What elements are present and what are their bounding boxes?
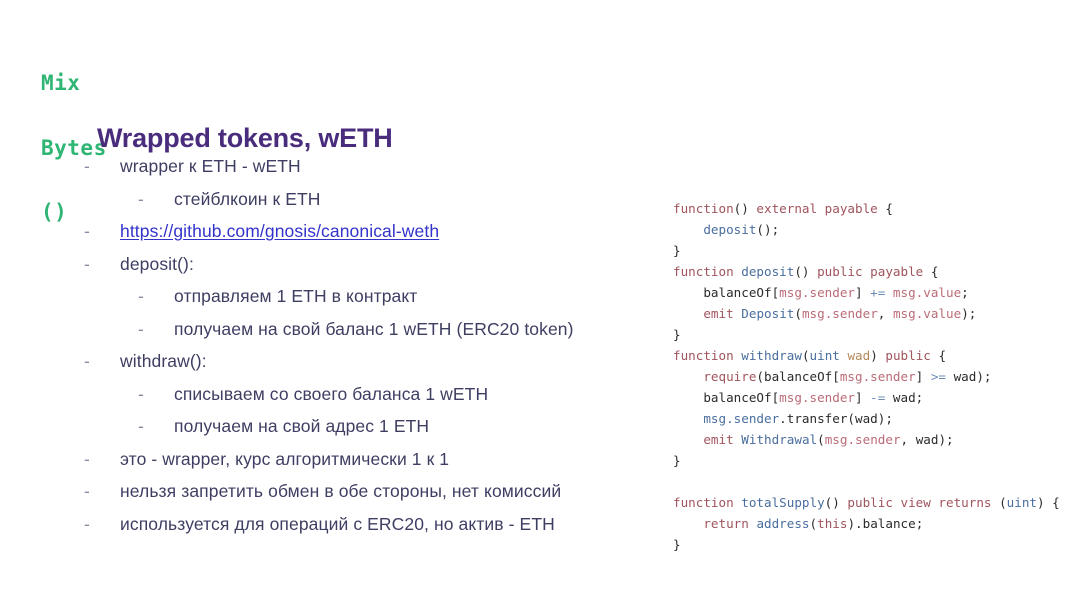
code-line: function withdraw(uint wad) public { — [673, 345, 1060, 366]
code-token: ] — [916, 369, 931, 384]
code-token: wad; — [885, 390, 923, 405]
code-line: emit Withdrawal(msg.sender, wad); — [673, 429, 1060, 450]
brand-logo-line-1: Mix — [41, 73, 107, 95]
bullet-dash-icon: - — [138, 386, 147, 404]
code-token: ) { — [1037, 495, 1060, 510]
bullet-text: списываем со своего баланса 1 wETH — [174, 386, 644, 404]
code-token: () — [825, 495, 848, 510]
code-token: () — [794, 264, 817, 279]
code-token: uint — [1007, 495, 1037, 510]
code-token: msg.sender — [779, 285, 855, 300]
code-token: msg.value — [893, 306, 961, 321]
code-token: emit — [703, 432, 733, 447]
code-line: deposit(); — [673, 219, 1060, 240]
code-token: uint — [810, 348, 840, 363]
code-token: msg.value — [893, 285, 961, 300]
code-token: ).balance; — [847, 516, 923, 531]
code-line: } — [673, 450, 1060, 471]
code-token: ] — [855, 390, 870, 405]
code-token — [673, 411, 703, 426]
code-token: { — [931, 348, 946, 363]
code-token: } — [673, 453, 681, 468]
code-token: () — [734, 201, 757, 216]
code-token — [673, 222, 703, 237]
bullet-text: это - wrapper, курс алгоритмически 1 к 1 — [120, 451, 644, 469]
bullet-item: -получаем на свой адрес 1 ETH — [84, 418, 644, 436]
code-line: } — [673, 534, 1060, 555]
code-token — [885, 285, 893, 300]
bullet-item: -получаем на свой баланс 1 wETH (ERC20 t… — [84, 321, 644, 339]
bullet-item: -стейблкоин к ETH — [84, 191, 644, 209]
code-token: Withdrawal — [741, 432, 817, 447]
bullet-dash-icon: - — [84, 451, 93, 469]
bullet-item: -deposit(): — [84, 256, 644, 274]
bullet-item: -отправляем 1 ETH в контракт — [84, 288, 644, 306]
bullet-item: -это - wrapper, курс алгоритмически 1 к … — [84, 451, 644, 469]
code-token: { — [878, 201, 893, 216]
bullet-dash-icon: - — [138, 418, 147, 436]
bullet-text: wrapper к ETH - wETH — [120, 158, 644, 176]
code-line: function deposit() public payable { — [673, 261, 1060, 282]
code-token: ( — [817, 432, 825, 447]
bullet-dash-icon: - — [138, 191, 147, 209]
code-line: balanceOf[msg.sender] -= wad; — [673, 387, 1060, 408]
code-token: withdraw — [741, 348, 802, 363]
code-token: ] — [855, 285, 870, 300]
code-token: ); — [961, 306, 976, 321]
code-token: ( — [794, 306, 802, 321]
code-token: function — [673, 264, 734, 279]
code-token: ; — [961, 285, 969, 300]
code-token: { — [923, 264, 938, 279]
code-line: require(balanceOf[msg.sender] >= wad); — [673, 366, 1060, 387]
code-token — [673, 369, 703, 384]
code-token: deposit — [741, 264, 794, 279]
bullet-dash-icon: - — [84, 353, 93, 371]
code-line: } — [673, 324, 1060, 345]
code-line: function totalSupply() public view retur… — [673, 492, 1060, 513]
code-token: function — [673, 201, 734, 216]
code-token: , — [878, 306, 893, 321]
code-token: external payable — [756, 201, 877, 216]
code-token: public payable — [817, 264, 923, 279]
bullet-dash-icon: - — [84, 223, 93, 241]
code-line: balanceOf[msg.sender] += msg.value; — [673, 282, 1060, 303]
code-token: this — [817, 516, 847, 531]
code-token: public — [885, 348, 931, 363]
code-token: += — [870, 285, 885, 300]
code-token: } — [673, 327, 681, 342]
code-token — [673, 306, 703, 321]
code-line: function() external payable { — [673, 198, 1060, 219]
code-token: balanceOf[ — [673, 285, 779, 300]
code-token: totalSupply — [741, 495, 824, 510]
code-token: msg.sender — [802, 306, 878, 321]
code-token: require — [703, 369, 756, 384]
bullet-item: -списываем со своего баланса 1 wETH — [84, 386, 644, 404]
bullet-text: withdraw(): — [120, 353, 644, 371]
bullet-item: -withdraw(): — [84, 353, 644, 371]
bullet-item: -wrapper к ETH - wETH — [84, 158, 644, 176]
bullet-dash-icon: - — [84, 516, 93, 534]
code-token: .transfer(wad); — [779, 411, 893, 426]
code-token: ( — [802, 348, 810, 363]
code-token: function — [673, 348, 734, 363]
code-line: emit Deposit(msg.sender, msg.value); — [673, 303, 1060, 324]
bullet-dash-icon: - — [138, 321, 147, 339]
bullet-text: deposit(): — [120, 256, 644, 274]
bullet-text: https://github.com/gnosis/canonical-weth — [120, 223, 644, 241]
code-block: function() external payable { deposit();… — [673, 198, 1060, 555]
code-token — [673, 516, 703, 531]
bullet-item: -используется для операций с ERC20, но а… — [84, 516, 644, 534]
bullet-text: получаем на свой баланс 1 wETH (ERC20 to… — [174, 321, 644, 339]
code-token: } — [673, 537, 681, 552]
bullet-text: используется для операций с ERC20, но ак… — [120, 516, 644, 534]
code-token: -= — [870, 390, 885, 405]
code-token: function — [673, 495, 734, 510]
code-token: } — [673, 243, 681, 258]
code-line: return address(this).balance; — [673, 513, 1060, 534]
bullet-dash-icon: - — [84, 158, 93, 176]
code-token: msg.sender — [840, 369, 916, 384]
bullet-list: -wrapper к ETH - wETH-стейблкоин к ETH-h… — [84, 158, 644, 548]
code-token: deposit — [703, 222, 756, 237]
code-token: , wad); — [901, 432, 954, 447]
code-token: ( — [810, 516, 818, 531]
code-line: msg.sender.transfer(wad); — [673, 408, 1060, 429]
code-line — [673, 471, 1060, 492]
bullet-item: -нельзя запретить обмен в обе стороны, н… — [84, 483, 644, 501]
code-token: balanceOf[ — [673, 390, 779, 405]
code-token: msg.sender — [703, 411, 779, 426]
code-token: msg.sender — [779, 390, 855, 405]
code-token — [673, 474, 681, 489]
code-token: (); — [756, 222, 779, 237]
code-token: ) — [870, 348, 885, 363]
code-token: wad — [847, 348, 870, 363]
code-token: Deposit — [741, 306, 794, 321]
bullet-dash-icon: - — [84, 256, 93, 274]
external-link[interactable]: https://github.com/gnosis/canonical-weth — [120, 221, 439, 241]
code-token: msg.sender — [825, 432, 901, 447]
code-token: return — [703, 516, 749, 531]
bullet-dash-icon: - — [84, 483, 93, 501]
bullet-text: нельзя запретить обмен в обе стороны, не… — [120, 483, 644, 501]
code-token — [673, 432, 703, 447]
code-token: public view returns — [847, 495, 991, 510]
page-title: Wrapped tokens, wETH — [97, 123, 393, 154]
code-token: ( — [991, 495, 1006, 510]
bullet-dash-icon: - — [138, 288, 147, 306]
code-token: (balanceOf[ — [756, 369, 839, 384]
code-token: wad); — [946, 369, 992, 384]
bullet-item: -https://github.com/gnosis/canonical-wet… — [84, 223, 644, 241]
bullet-text: отправляем 1 ETH в контракт — [174, 288, 644, 306]
code-line: } — [673, 240, 1060, 261]
bullet-text: стейблкоин к ETH — [174, 191, 644, 209]
code-token: emit — [703, 306, 733, 321]
code-token: >= — [931, 369, 946, 384]
bullet-text: получаем на свой адрес 1 ETH — [174, 418, 644, 436]
code-token: address — [756, 516, 809, 531]
